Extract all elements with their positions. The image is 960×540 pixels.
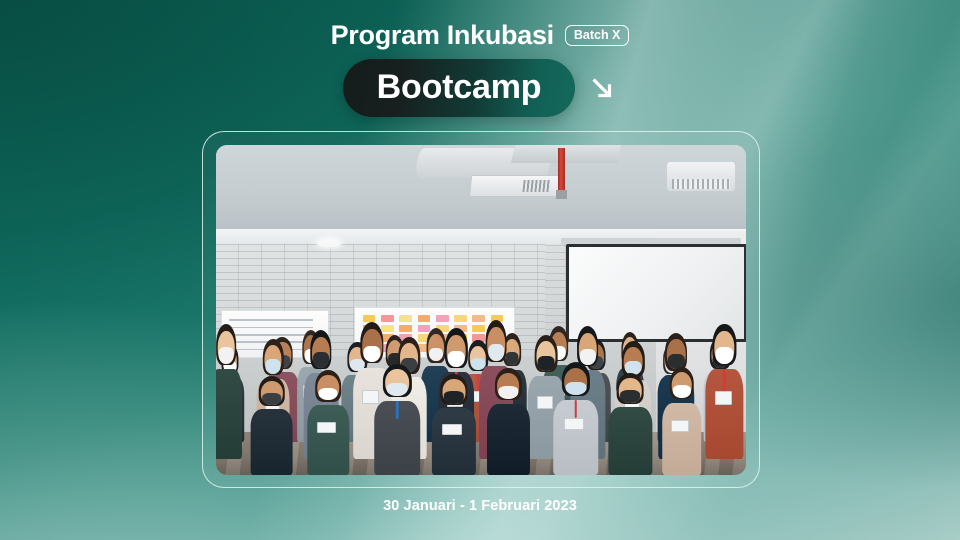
photo-sticky-note [436, 315, 449, 322]
photo-person [374, 363, 420, 476]
bootcamp-pill: Bootcamp [343, 59, 576, 117]
photo-ceiling-vent [469, 175, 563, 197]
title-row: Program Inkubasi Batch X [331, 22, 630, 49]
photo-ceiling-duct-secondary [511, 145, 622, 163]
photo-person-name-tag [564, 418, 584, 430]
photo-sprinkler-pipe [558, 148, 565, 191]
photo-sticky-note [399, 315, 412, 322]
photo-person-name-tag [537, 396, 554, 409]
bootcamp-pill-label: Bootcamp [377, 70, 542, 104]
photo-person-body [250, 409, 293, 475]
date-caption: 30 Januari - 1 Februari 2023 [0, 498, 960, 514]
photo-person-name-tag [671, 420, 689, 432]
photo-sprinkler-head [556, 190, 567, 200]
photo-person [662, 366, 702, 476]
photo-person-face-mask [387, 383, 408, 397]
photo-person [609, 372, 652, 476]
photo-person-lanyard [723, 369, 726, 391]
photo-person-face-mask [319, 388, 338, 401]
photo-person-name-tag [317, 422, 336, 434]
photo-person [250, 375, 293, 476]
photo-person-face-mask [565, 382, 586, 396]
group-photo [216, 145, 746, 475]
photo-person [307, 369, 348, 476]
photo-person-body [487, 404, 529, 475]
photo-person-face-mask [488, 344, 504, 361]
pill-row: Bootcamp [343, 59, 618, 117]
page-title: Program Inkubasi [331, 22, 554, 49]
photo-person-lanyard [396, 401, 399, 419]
batch-badge: Batch X [565, 25, 630, 47]
photo-person-face-mask [363, 346, 380, 363]
photo-person-face-mask [266, 359, 281, 374]
photo-person-body [662, 403, 702, 475]
photo-person-face-mask [262, 393, 282, 405]
photo-frame [202, 131, 760, 488]
photo-person-body [609, 407, 652, 475]
photo-person [553, 361, 598, 475]
photo-person-body [307, 405, 348, 475]
photo-person [216, 323, 242, 459]
photo-person-face-mask [499, 386, 518, 399]
arrow-down-right-icon [587, 73, 617, 103]
photo-person-body [216, 369, 242, 458]
photo-person-body [432, 408, 476, 475]
photo-person [432, 373, 476, 475]
photo-person-face-mask [219, 347, 234, 363]
header: Program Inkubasi Batch X Bootcamp [0, 22, 960, 117]
photo-person-face-mask [448, 351, 465, 367]
photo-person [487, 367, 529, 475]
photo-sticky-note [454, 315, 467, 322]
photo-sticky-note [418, 315, 431, 322]
slide-canvas: Program Inkubasi Batch X Bootcamp [0, 0, 960, 540]
photo-person-name-tag [715, 391, 732, 405]
photo-downlight [317, 239, 341, 247]
photo-person [706, 323, 743, 459]
photo-sticky-note [399, 325, 412, 332]
photo-person-name-tag [442, 424, 462, 435]
photo-air-conditioner [667, 162, 736, 192]
photo-person-lanyard [575, 400, 578, 418]
photo-person-face-mask [313, 352, 329, 368]
